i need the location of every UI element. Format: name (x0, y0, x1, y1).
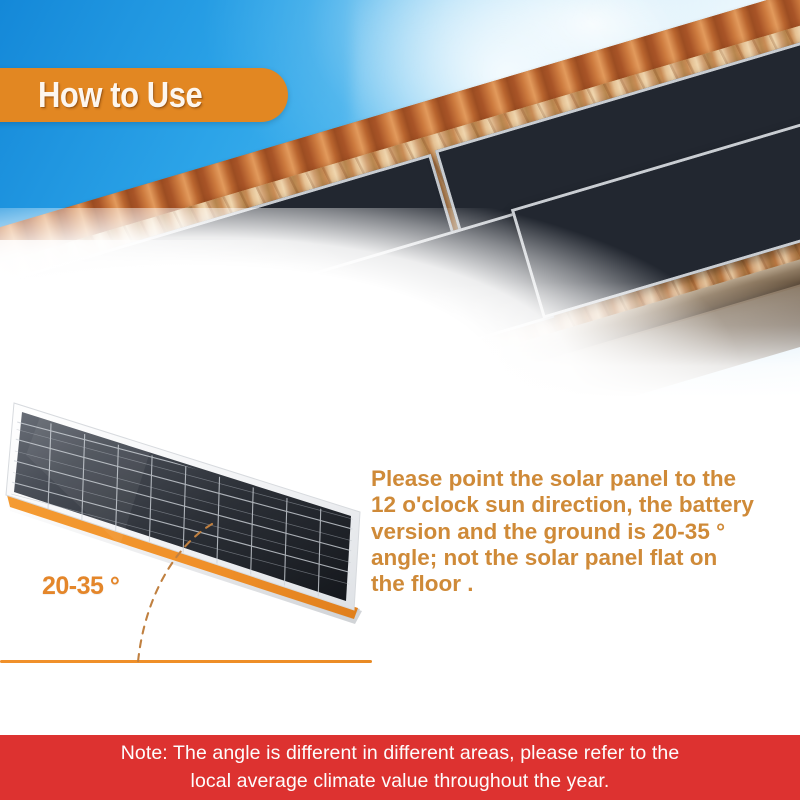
note-line-1: Note: The angle is different in differen… (121, 740, 680, 768)
instruction-line-3: version and the ground is 20-35 ° (371, 519, 787, 545)
how-to-use-banner: How to Use (0, 68, 288, 122)
roof-installation-photo (0, 0, 800, 400)
photo-bottom-fade (0, 282, 800, 400)
instruction-line-2: 12 o'clock sun direction, the battery (371, 492, 787, 518)
banner-title: How to Use (38, 74, 202, 116)
instruction-line-1: Please point the solar panel to the (371, 466, 787, 492)
note-line-2: local average climate value throughout t… (191, 768, 610, 796)
angle-label: 20-35 ° (42, 572, 119, 601)
how-to-use-infographic: How to Use (0, 0, 800, 800)
angle-arc-dashed (120, 522, 260, 667)
note-bar: Note: The angle is different in differen… (0, 735, 800, 800)
instruction-paragraph: Please point the solar panel to the 12 o… (371, 466, 787, 597)
instruction-line-4: angle; not the solar panel flat on (371, 545, 787, 571)
instruction-line-5: the floor . (371, 571, 787, 597)
